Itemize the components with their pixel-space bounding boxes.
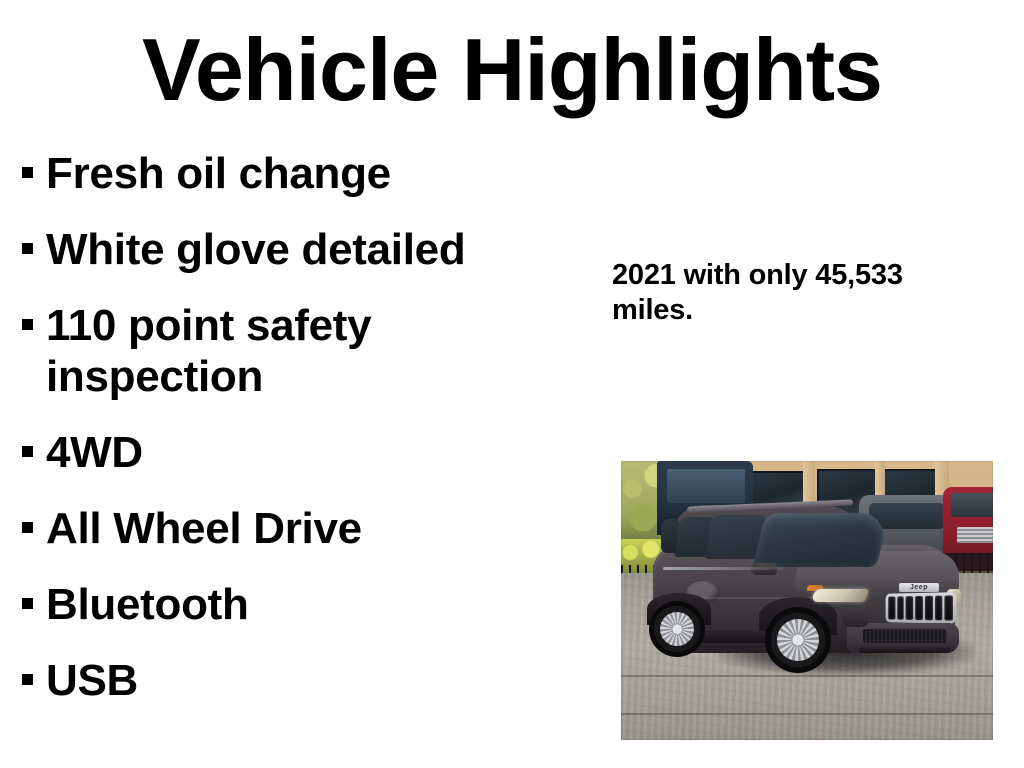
vehicle-photo-scene: Jeep — [621, 461, 993, 740]
square-bullet-icon — [22, 243, 33, 254]
list-item-label: 4WD — [46, 427, 570, 478]
square-bullet-icon — [22, 598, 33, 609]
vehicle-photo: Jeep — [621, 461, 993, 740]
pavement-seam — [621, 713, 993, 715]
front-rim — [777, 619, 819, 661]
pavement-seam — [621, 675, 993, 677]
grille-slot — [935, 596, 943, 621]
list-item: All Wheel Drive — [10, 503, 570, 554]
list-item: Fresh oil change — [10, 148, 570, 199]
grille-slot — [888, 596, 895, 619]
wheel-hub — [791, 633, 805, 647]
grille-slot — [897, 596, 904, 619]
skid-plate — [859, 647, 951, 653]
highlights-list: Fresh oil change White glove detailed 11… — [10, 148, 570, 706]
seven-slot-grille-icon — [886, 592, 957, 624]
rear-wheel — [649, 601, 705, 657]
list-item: USB — [10, 655, 570, 706]
list-item-label: Bluetooth — [46, 579, 570, 630]
square-bullet-icon — [22, 167, 33, 178]
jeep-cherokee: Jeep — [647, 489, 965, 675]
lower-grille — [863, 629, 947, 643]
list-item-label: White glove detailed — [46, 224, 570, 275]
list-item-label: 110 point safety inspection — [46, 300, 570, 402]
page-title: Vehicle Highlights — [40, 22, 984, 118]
list-item-label: Fresh oil change — [46, 148, 570, 199]
list-item: 4WD — [10, 427, 570, 478]
front-wheel — [765, 607, 831, 673]
beltline-trim — [663, 567, 785, 570]
jeep-badge: Jeep — [899, 583, 939, 592]
grille-slot — [945, 595, 953, 620]
square-bullet-icon — [22, 674, 33, 685]
list-item-label: All Wheel Drive — [46, 503, 570, 554]
list-item-label: USB — [46, 655, 570, 706]
square-bullet-icon — [22, 522, 33, 533]
grille-slot — [906, 596, 913, 620]
square-bullet-icon — [22, 319, 33, 330]
list-item: White glove detailed — [10, 224, 570, 275]
list-item: 110 point safety inspection — [10, 300, 570, 402]
slide-canvas: Vehicle Highlights Fresh oil change Whit… — [0, 0, 1024, 768]
rear-rim — [660, 612, 694, 646]
square-bullet-icon — [22, 446, 33, 457]
list-item: Bluetooth — [10, 579, 570, 630]
fog-lamp-recess — [843, 611, 869, 627]
grille-slot — [915, 596, 923, 620]
grille-slot — [925, 596, 933, 620]
headlight — [811, 589, 869, 602]
windshield — [752, 513, 889, 567]
mileage-caption: 2021 with only 45,533 miles. — [612, 258, 984, 328]
wheel-hub — [671, 623, 683, 635]
